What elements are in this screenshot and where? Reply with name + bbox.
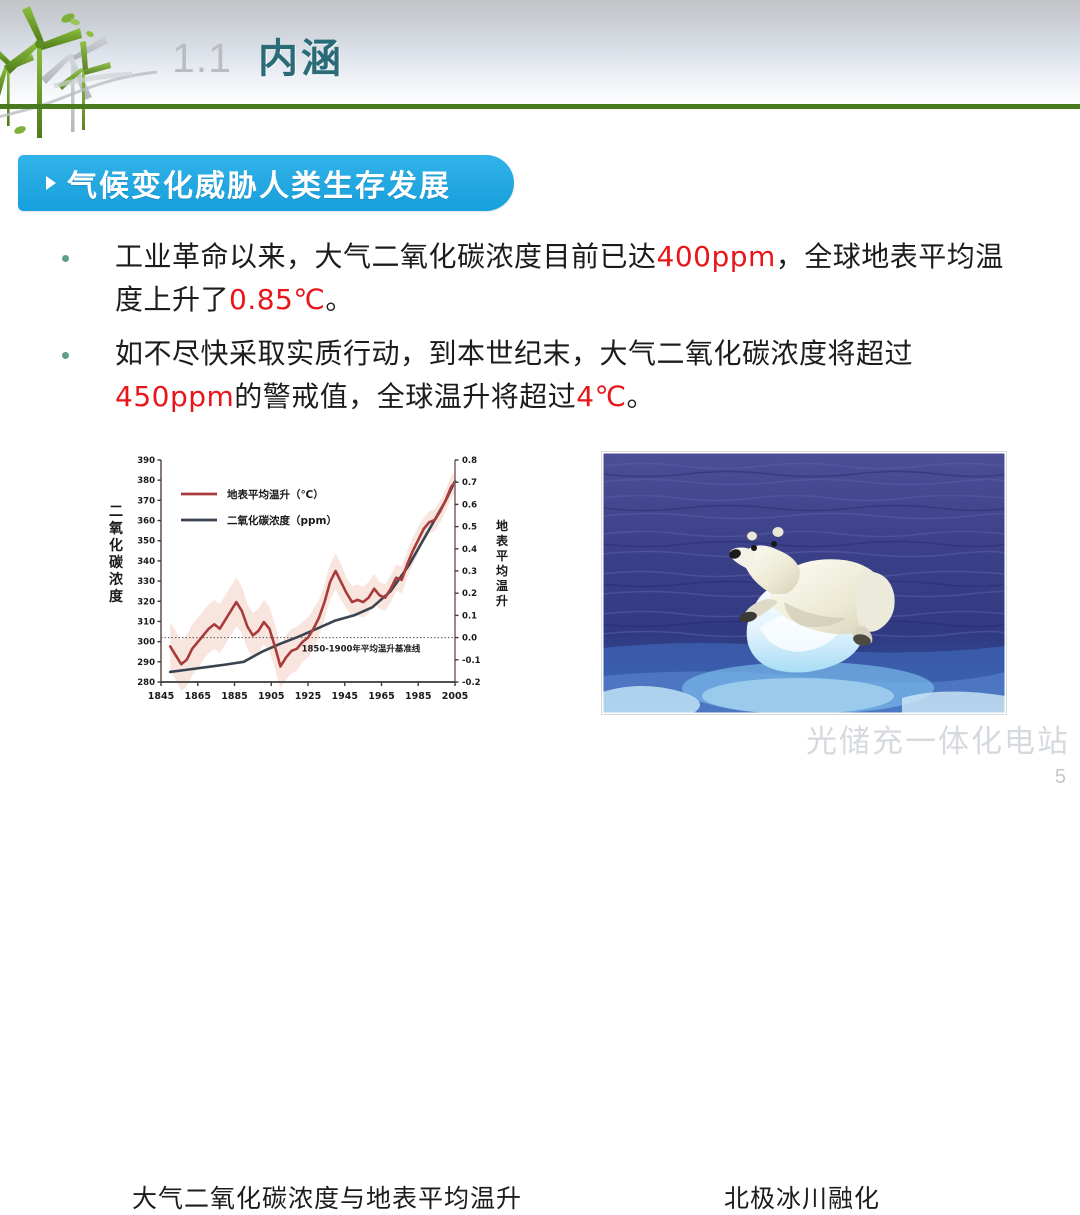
svg-text:1925: 1925 — [295, 691, 321, 702]
bullet-item: 如不尽快采取实质行动，到本世纪末，大气二氧化碳浓度将超过450ppm的警戒值，全… — [62, 333, 1022, 418]
section-number: 1.1 — [172, 35, 232, 82]
svg-text:地表平均温升（℃）: 地表平均温升（℃） — [227, 488, 324, 501]
svg-text:碳: 碳 — [109, 554, 124, 571]
bullet-list: 工业革命以来，大气二氧化碳浓度目前已达400ppm，全球地表平均温度上升了0.8… — [62, 236, 1022, 430]
svg-text:300: 300 — [137, 638, 155, 648]
svg-text:330: 330 — [137, 577, 155, 587]
svg-text:380: 380 — [137, 476, 155, 486]
svg-text:1885: 1885 — [221, 691, 247, 702]
svg-text:1965: 1965 — [368, 691, 394, 702]
svg-text:310: 310 — [137, 617, 155, 627]
svg-text:1850-1900年平均温升基准线: 1850-1900年平均温升基准线 — [302, 644, 421, 655]
highlighted-value: 4℃ — [576, 380, 626, 413]
svg-text:度: 度 — [109, 588, 124, 605]
svg-text:氧: 氧 — [108, 520, 123, 537]
svg-text:0.5: 0.5 — [462, 523, 477, 533]
co2-temperature-chart: 280290300310320330340350360370380390-0.2… — [103, 446, 523, 724]
plain-text: 如不尽快采取实质行动，到本世纪末，大气二氧化碳浓度将超过 — [115, 337, 913, 370]
svg-text:0.0: 0.0 — [462, 634, 477, 644]
svg-text:浓: 浓 — [109, 571, 124, 588]
svg-text:平: 平 — [496, 549, 508, 563]
svg-text:340: 340 — [137, 557, 155, 567]
svg-text:升: 升 — [496, 593, 508, 608]
svg-text:-0.1: -0.1 — [462, 656, 481, 666]
bullet-dot-icon — [62, 352, 69, 359]
svg-text:0.8: 0.8 — [462, 456, 477, 466]
section-banner[interactable]: 气候变化威胁人类生存发展 — [18, 155, 514, 211]
plain-text: 的警戒值，全球温升将超过 — [234, 380, 576, 413]
svg-text:370: 370 — [137, 496, 155, 506]
bullet-item: 工业革命以来，大气二氧化碳浓度目前已达400ppm，全球地表平均温度上升了0.8… — [62, 236, 1022, 321]
bullet-dot-icon — [62, 255, 69, 262]
page-number: 5 — [1055, 766, 1066, 789]
chart-caption: 大气二氧化碳浓度与地表平均温升 — [132, 1179, 522, 1215]
highlighted-value: 450ppm — [115, 380, 234, 413]
svg-text:0.4: 0.4 — [462, 545, 477, 555]
svg-text:350: 350 — [137, 537, 155, 547]
photo-caption: 北极冰川融化 — [724, 1179, 880, 1215]
polar-bear-photo — [602, 452, 1006, 714]
triangle-right-icon — [46, 176, 56, 190]
svg-text:280: 280 — [137, 678, 155, 688]
header-divider — [0, 104, 1080, 109]
svg-text:360: 360 — [137, 517, 155, 527]
svg-text:表: 表 — [495, 533, 509, 548]
figure-row: 280290300310320330340350360370380390-0.2… — [0, 446, 1080, 746]
svg-text:1865: 1865 — [185, 691, 211, 702]
plain-text: 。 — [627, 380, 656, 413]
plain-text: 。 — [325, 283, 354, 316]
svg-text:1985: 1985 — [405, 691, 431, 702]
svg-text:1905: 1905 — [258, 691, 284, 702]
bullet-text: 工业革命以来，大气二氧化碳浓度目前已达400ppm，全球地表平均温度上升了0.8… — [115, 236, 1022, 321]
highlighted-value: 400ppm — [657, 240, 776, 273]
page-title: 1.1 内涵 — [172, 26, 344, 84]
plain-text: 工业革命以来，大气二氧化碳浓度目前已达 — [115, 240, 657, 273]
slide-header: 1.1 内涵 — [0, 0, 1080, 112]
svg-text:地: 地 — [496, 518, 508, 533]
svg-text:390: 390 — [137, 456, 155, 466]
svg-text:0.2: 0.2 — [462, 589, 477, 599]
section-title: 内涵 — [258, 26, 344, 84]
highlighted-value: 0.85℃ — [229, 283, 325, 316]
svg-text:二氧化碳浓度（ppm）: 二氧化碳浓度（ppm） — [227, 514, 337, 527]
svg-text:1845: 1845 — [148, 691, 174, 702]
svg-text:温: 温 — [496, 579, 508, 593]
bullet-text: 如不尽快采取实质行动，到本世纪末，大气二氧化碳浓度将超过450ppm的警戒值，全… — [115, 333, 1022, 418]
svg-text:-0.2: -0.2 — [462, 678, 481, 688]
svg-text:1945: 1945 — [332, 691, 358, 702]
svg-text:均: 均 — [496, 563, 508, 578]
svg-text:二: 二 — [109, 504, 123, 520]
svg-text:320: 320 — [137, 597, 155, 607]
svg-text:290: 290 — [137, 658, 155, 668]
svg-text:0.1: 0.1 — [462, 611, 477, 621]
svg-text:0.7: 0.7 — [462, 478, 477, 488]
section-banner-label: 气候变化威胁人类生存发展 — [67, 161, 451, 205]
svg-text:0.6: 0.6 — [462, 500, 477, 510]
svg-text:2005: 2005 — [442, 691, 468, 702]
svg-text:0.3: 0.3 — [462, 567, 477, 577]
svg-text:化: 化 — [109, 537, 123, 554]
